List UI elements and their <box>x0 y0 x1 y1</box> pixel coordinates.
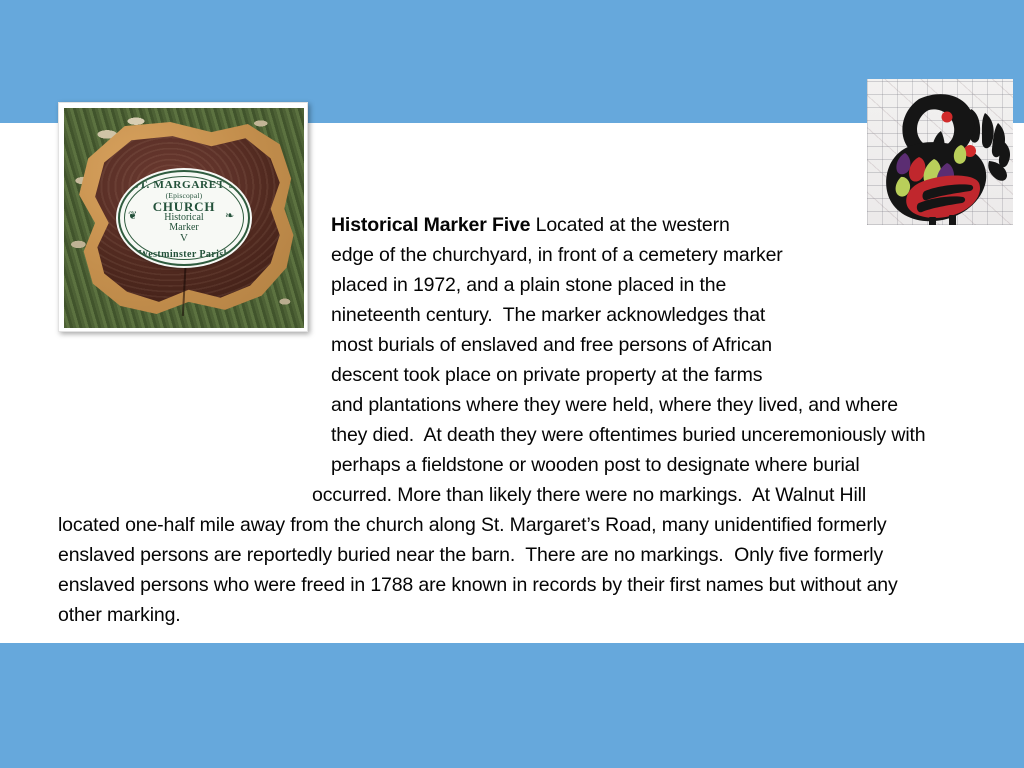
plaque-arc-bottom: Westminster Parish <box>120 249 248 260</box>
body-text-line-10: occurred. More than likely there were no… <box>312 480 866 510</box>
body-text-line-6: descent took place on private property a… <box>331 360 762 390</box>
body-text-line-1: Historical Marker Five Located at the we… <box>331 210 730 240</box>
body-text-line-9: perhaps a fieldstone or wooden post to d… <box>331 450 860 480</box>
body-text-line-8: they died. At death they were oftentimes… <box>331 420 926 450</box>
body-text-line-13: enslaved persons who were freed in 1788 … <box>58 570 898 600</box>
plaque-church: CHURCH <box>120 199 248 212</box>
body-heading-run: Historical Marker Five <box>331 214 530 236</box>
church-plaque: ST. MARGARET'S ❦ ❧ (Episcopal) CHURCH Hi… <box>118 170 250 266</box>
slide-canvas: ST. MARGARET'S ❦ ❧ (Episcopal) CHURCH Hi… <box>0 0 1024 768</box>
historical-marker-photo: ST. MARGARET'S ❦ ❧ (Episcopal) CHURCH Hi… <box>58 102 308 332</box>
body-text-line-14: other marking. <box>58 600 181 630</box>
plaque-arc-top: ST. MARGARET'S <box>119 179 250 191</box>
bird-icon <box>867 79 1013 225</box>
plaque-core-text: (Episcopal) CHURCH Historical Marker V <box>120 192 248 244</box>
body-text-line-3: placed in 1972, and a plain stone placed… <box>331 270 726 300</box>
photo-inner: ST. MARGARET'S ❦ ❧ (Episcopal) CHURCH Hi… <box>64 108 304 328</box>
body-text-line-2: edge of the churchyard, in front of a ce… <box>331 240 783 270</box>
body-text-line-5: most burials of enslaved and free person… <box>331 330 772 360</box>
body-text-line-7: and plantations where they were held, wh… <box>331 390 898 420</box>
plaque-numeral: V <box>120 233 248 244</box>
sankofa-bird-image <box>867 79 1013 225</box>
bottom-blue-band <box>0 643 1024 768</box>
body-text-line-12: enslaved persons are reportedly buried n… <box>58 540 883 570</box>
body-text-line-4: nineteenth century. The marker acknowled… <box>331 300 765 330</box>
body-text-line-11: located one-half mile away from the chur… <box>58 510 887 540</box>
